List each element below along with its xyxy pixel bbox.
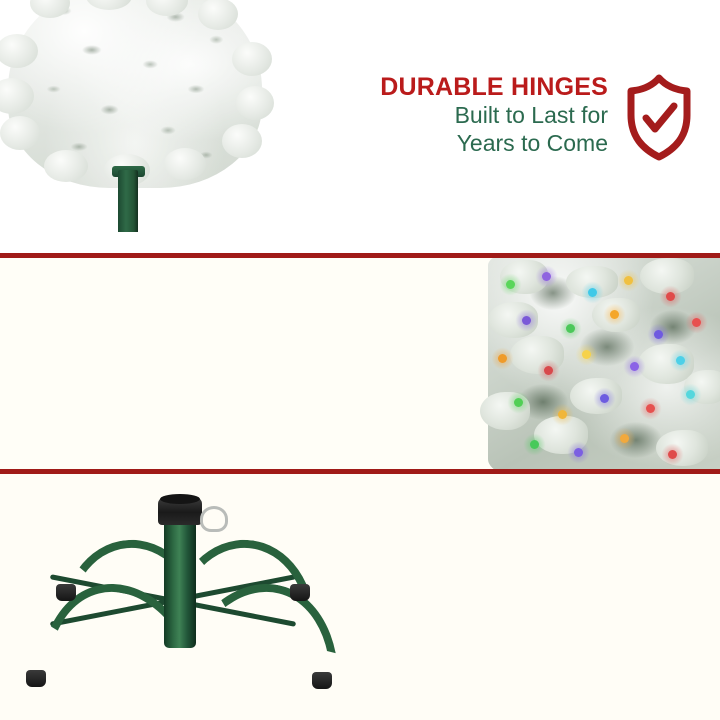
stand-hook-ring bbox=[200, 506, 228, 532]
led-bulb bbox=[654, 330, 663, 339]
flock-tuft bbox=[44, 150, 88, 182]
led-bulb bbox=[566, 324, 575, 333]
feature-panel-pvc-branches: PVC BRANCHES Long Lasting Fire Retardant… bbox=[0, 258, 720, 469]
led-bulb bbox=[610, 310, 619, 319]
tree-trunk-pole bbox=[118, 170, 138, 232]
led-bulb bbox=[646, 404, 655, 413]
led-bulb bbox=[666, 292, 675, 301]
led-bulb bbox=[588, 288, 597, 297]
led-bulb bbox=[620, 434, 629, 443]
led-bulb bbox=[498, 354, 507, 363]
flock-tuft bbox=[232, 42, 272, 76]
led-bulb bbox=[630, 362, 639, 371]
flock-tuft bbox=[164, 148, 206, 180]
durable-hinges-subline-1: Built to Last for bbox=[380, 101, 608, 129]
feature-panel-sturdy-base: STURDY BASE Foldable Metal Tree Stand fo… bbox=[0, 474, 720, 720]
stand-foot bbox=[290, 584, 310, 601]
led-bulb bbox=[676, 356, 685, 365]
panel-divider-top bbox=[0, 253, 720, 258]
led-bulb bbox=[668, 450, 677, 459]
durable-hinges-headline: DURABLE HINGES bbox=[380, 73, 608, 101]
foldable-metal-tree-stand-photo bbox=[8, 480, 368, 710]
stand-foot bbox=[26, 670, 46, 687]
stand-collar-lip bbox=[160, 494, 200, 504]
led-bulb bbox=[544, 366, 553, 375]
led-bulb bbox=[506, 280, 515, 289]
flock-tuft bbox=[236, 86, 274, 120]
led-bulb bbox=[624, 276, 633, 285]
led-bulb bbox=[582, 350, 591, 359]
led-bulb bbox=[542, 272, 551, 281]
led-bulb bbox=[530, 440, 539, 449]
led-bulb bbox=[600, 394, 609, 403]
panel-divider-bottom bbox=[0, 469, 720, 474]
led-bulb bbox=[686, 390, 695, 399]
led-bulb bbox=[558, 410, 567, 419]
led-bulb bbox=[692, 318, 701, 327]
shield-check-icon bbox=[622, 73, 696, 161]
led-bulb bbox=[522, 316, 531, 325]
stand-center-column bbox=[164, 512, 196, 648]
flock-tuft bbox=[222, 124, 262, 158]
product-feature-infographic: DURABLE HINGES Built to Last for Years t… bbox=[0, 0, 720, 720]
durable-hinges-subline-2: Years to Come bbox=[380, 129, 608, 157]
durable-hinges-text-block: DURABLE HINGES Built to Last for Years t… bbox=[380, 73, 608, 157]
led-lit-flocked-branches-photo bbox=[470, 258, 720, 469]
feature-panel-durable-hinges: DURABLE HINGES Built to Last for Years t… bbox=[0, 0, 720, 253]
led-bulb bbox=[514, 398, 523, 407]
led-bulb bbox=[574, 448, 583, 457]
stand-foot bbox=[312, 672, 332, 689]
flock-tuft bbox=[0, 116, 40, 150]
stand-foot bbox=[56, 584, 76, 601]
flocked-christmas-tree-photo bbox=[0, 0, 280, 232]
